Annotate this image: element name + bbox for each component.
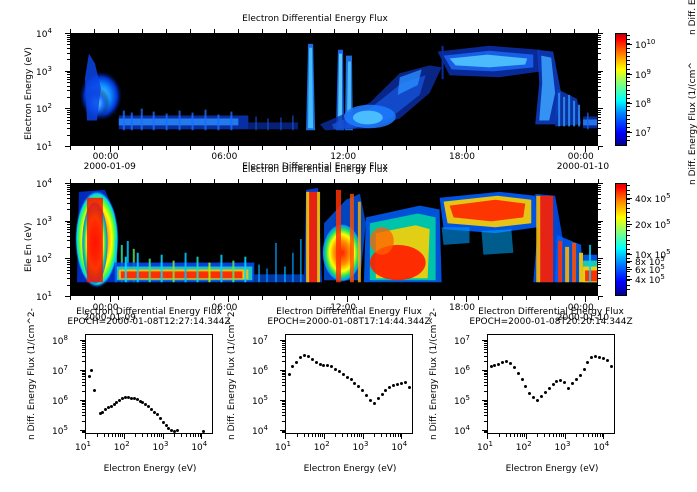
data-point — [610, 365, 613, 368]
data-point — [159, 417, 162, 420]
data-point — [404, 381, 407, 384]
y-tick-label: 102 — [36, 252, 52, 265]
top-spectrogram-image — [71, 34, 597, 145]
data-point — [521, 378, 524, 381]
x-axis-date-right: 2000-01-10 — [557, 162, 609, 172]
spectrum-ylabel: n Diff. Energy Flux (1/(cm^2- — [429, 308, 439, 440]
spectrum-plot-1[interactable] — [85, 334, 213, 434]
data-point — [295, 361, 298, 364]
data-point — [104, 408, 107, 411]
x-axis-date-left: 2000-01-09 — [84, 162, 136, 172]
x-tick-label: 102 — [516, 440, 532, 453]
x-tick-label: 101 — [75, 440, 91, 453]
data-point — [559, 379, 562, 382]
data-point — [373, 402, 376, 405]
data-point — [544, 391, 547, 394]
x-tick-label: 103 — [353, 440, 369, 453]
data-point — [338, 370, 341, 373]
top-panel-title: Electron Differential Energy Flux — [155, 14, 475, 24]
x-tick-label: 102 — [114, 440, 130, 453]
data-point — [353, 382, 356, 385]
top-spectrogram-plot[interactable] — [70, 33, 598, 146]
data-point — [88, 375, 91, 378]
spectrum-plot-2[interactable] — [285, 334, 413, 434]
top-colorbar — [615, 33, 627, 146]
data-point — [536, 399, 539, 402]
y-tick-label: 107 — [252, 334, 268, 347]
data-point — [311, 358, 314, 361]
spectrum-xlabel: Electron Energy (eV) — [77, 464, 223, 474]
data-point — [384, 389, 387, 392]
spectrum-plot-3[interactable] — [487, 334, 615, 434]
x-tick-label: 104 — [593, 440, 609, 453]
data-point — [346, 376, 349, 379]
y-tick-label: 104 — [36, 27, 52, 40]
data-point — [299, 356, 302, 359]
data-point — [571, 382, 574, 385]
data-point — [392, 384, 395, 387]
y-tick-label: 106 — [252, 364, 268, 377]
top-panel-xlabel: Electron Differential Energy Flux — [155, 162, 475, 172]
x-tick-label: 101 — [275, 440, 291, 453]
x-tick-label: 103 — [153, 440, 169, 453]
colorbar-tick-label: 108 — [635, 97, 651, 110]
data-point — [322, 364, 325, 367]
data-point — [202, 430, 205, 433]
data-point — [330, 365, 333, 368]
data-point — [342, 373, 345, 376]
data-point — [540, 395, 543, 398]
data-point — [357, 385, 360, 388]
data-point — [291, 365, 294, 368]
middle-panel-ylabel: Ele En (eV) — [24, 222, 34, 272]
middle-spectrogram-image — [71, 184, 597, 295]
data-point — [590, 356, 593, 359]
data-point — [408, 386, 411, 389]
data-point — [307, 355, 310, 358]
data-point — [505, 360, 508, 363]
y-tick-label: 104 — [252, 424, 268, 437]
data-point — [517, 372, 520, 375]
data-point — [176, 429, 179, 432]
data-point — [288, 373, 291, 376]
data-point — [555, 380, 558, 383]
data-point — [579, 374, 582, 377]
middle-colorbar-label: n Diff. Energy Flux (1/(cm^ — [688, 62, 697, 185]
y-tick-label: 104 — [454, 424, 470, 437]
x-tick-label: 103 — [555, 440, 571, 453]
x-tick-label: 101 — [477, 440, 493, 453]
data-point — [586, 361, 589, 364]
middle-colorbar — [615, 183, 627, 296]
data-point — [575, 378, 578, 381]
y-tick-label: 103 — [36, 65, 52, 78]
colorbar-tick-label: 20x 105 — [635, 218, 671, 231]
data-point — [361, 389, 364, 392]
data-point — [350, 378, 353, 381]
data-point — [567, 387, 570, 390]
data-point — [602, 357, 605, 360]
spectrum-title: Electron Differential Energy Flux — [402, 307, 697, 317]
y-tick-label: 105 — [454, 394, 470, 407]
y-tick-label: 106 — [52, 394, 68, 407]
spectrum-ylabel: n Diff. Energy Flux (1/(cm^2- — [227, 308, 237, 440]
y-tick-label: 105 — [252, 394, 268, 407]
data-point — [156, 413, 159, 416]
top-colorbar-label: n Diff. Energy Flux (1/(cm^ — [688, 0, 697, 35]
data-point — [532, 396, 535, 399]
spectrum-xlabel: Electron Energy (eV) — [277, 464, 423, 474]
data-point — [90, 369, 93, 372]
data-point — [162, 421, 165, 424]
data-point — [388, 386, 391, 389]
data-point — [334, 368, 337, 371]
data-point — [490, 365, 493, 368]
y-tick-label: 102 — [36, 102, 52, 115]
data-point — [101, 411, 104, 414]
data-point — [583, 368, 586, 371]
data-point — [548, 387, 551, 390]
data-point — [377, 397, 380, 400]
data-point — [524, 385, 527, 388]
data-point — [400, 382, 403, 385]
spectrum-ylabel: n Diff. Energy Flux (1/(cm^2- — [27, 308, 37, 440]
y-tick-label: 105 — [52, 424, 68, 437]
colorbar-tick-label: 4x 105 — [635, 273, 665, 286]
data-point — [563, 381, 566, 384]
data-point — [606, 359, 609, 362]
data-point — [319, 363, 322, 366]
data-point — [513, 366, 516, 369]
y-tick-label: 107 — [454, 334, 470, 347]
data-point — [315, 361, 318, 364]
data-point — [497, 363, 500, 366]
data-point — [594, 355, 597, 358]
top-panel-ylabel: Electron Energy (eV) — [24, 47, 34, 140]
data-point — [509, 362, 512, 365]
data-point — [365, 394, 368, 397]
y-tick-label: 106 — [454, 364, 470, 377]
x-tick-label: 12:00 — [330, 152, 356, 162]
data-point — [493, 364, 496, 367]
data-point — [381, 393, 384, 396]
data-point — [598, 356, 601, 359]
spectrum-xlabel: Electron Energy (eV) — [479, 464, 625, 474]
colorbar-tick-label: 109 — [635, 68, 651, 81]
middle-spectrogram-plot[interactable] — [70, 183, 598, 296]
data-point — [501, 361, 504, 364]
y-tick-label: 101 — [36, 290, 52, 303]
x-tick-label: 00:00 — [568, 152, 594, 162]
data-point — [93, 389, 96, 392]
x-tick-label: 06:00 — [211, 152, 237, 162]
y-tick-label: 108 — [52, 334, 68, 347]
x-tick-label: 00:00 — [93, 152, 119, 162]
x-tick-label: 102 — [314, 440, 330, 453]
y-tick-label: 103 — [36, 215, 52, 228]
y-tick-label: 107 — [52, 364, 68, 377]
spectrum-subtitle: EPOCH=2000-01-08T20:20:14.344Z — [402, 317, 697, 327]
x-tick-label: 18:00 — [449, 152, 475, 162]
data-point — [552, 383, 555, 386]
x-tick-label: 104 — [191, 440, 207, 453]
data-point — [326, 364, 329, 367]
x-tick-label: 104 — [391, 440, 407, 453]
data-point — [369, 399, 372, 402]
y-tick-label: 101 — [36, 140, 52, 153]
colorbar-tick-label: 107 — [635, 126, 651, 139]
colorbar-tick-label: 40x 105 — [635, 192, 671, 205]
data-point — [528, 392, 531, 395]
data-point — [396, 383, 399, 386]
data-point — [303, 354, 306, 357]
colorbar-tick-label: 1010 — [635, 38, 655, 51]
y-tick-label: 104 — [36, 177, 52, 190]
